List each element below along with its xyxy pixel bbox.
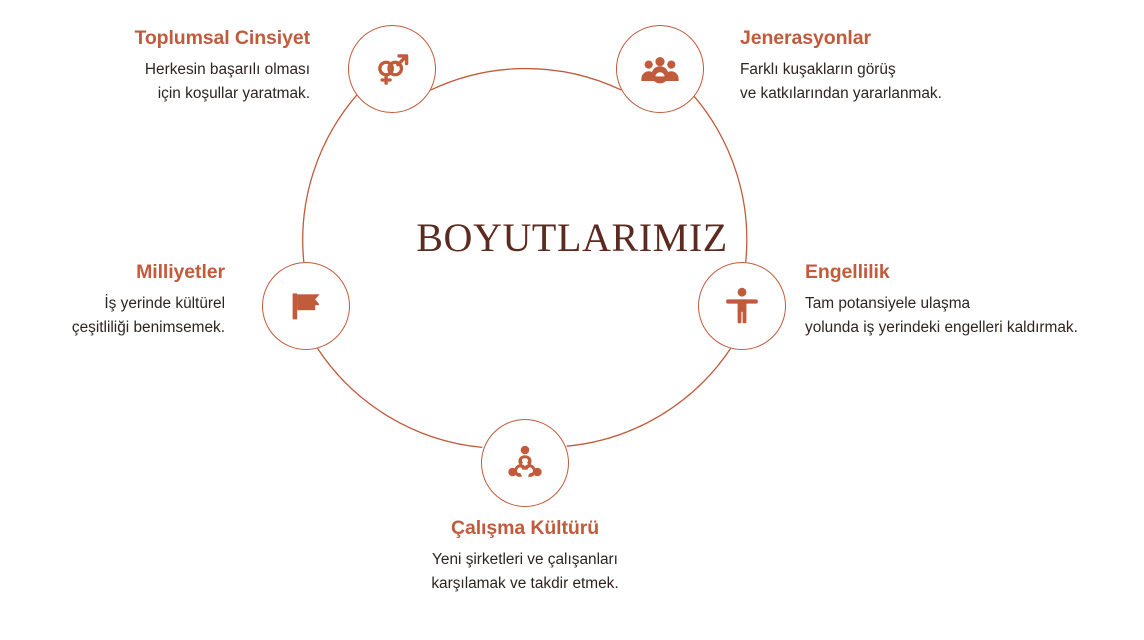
label-generations-desc: Farklı kuşakların görüş ve katkılarından… <box>740 58 1070 106</box>
teamwork-circle-icon <box>505 444 545 482</box>
diagram-canvas: Toplumsal Cinsiyet Herkesin başarılı olm… <box>0 0 1144 640</box>
label-workculture-title: Çalışma Kültürü <box>345 518 705 539</box>
label-gender: Toplumsal Cinsiyet Herkesin başarılı olm… <box>40 28 310 107</box>
flag-icon <box>288 288 324 324</box>
node-gender[interactable] <box>348 25 436 113</box>
label-workculture-desc: Yeni şirketleri ve çalışanları karşılama… <box>345 548 705 596</box>
group-of-people-icon <box>640 49 680 89</box>
label-nationality-desc: İş yerinde kültürel çeşitliliği benimsem… <box>20 292 225 340</box>
label-generations-title: Jenerasyonlar <box>740 28 1070 49</box>
label-disability: Engellilik Tam potansiyele ulaşma yolund… <box>805 262 1120 341</box>
accessibility-icon <box>725 287 759 325</box>
page-title: BOYUTLARIMIZ <box>0 218 1144 258</box>
gender-symbols-icon <box>372 49 412 89</box>
label-generations: Jenerasyonlar Farklı kuşakların görüş ve… <box>740 28 1070 107</box>
label-gender-desc: Herkesin başarılı olması için koşullar y… <box>40 58 310 106</box>
arc-workculture-to-nationality <box>317 348 482 447</box>
arc-gender-to-generations <box>431 69 622 91</box>
label-workculture: Çalışma Kültürü Yeni şirketleri ve çalış… <box>345 518 705 597</box>
label-disability-title: Engellilik <box>805 262 1120 283</box>
node-generations[interactable] <box>616 25 704 113</box>
label-nationality-title: Milliyetler <box>20 262 225 283</box>
arc-disability-to-workculture <box>567 349 731 447</box>
label-gender-title: Toplumsal Cinsiyet <box>40 28 310 49</box>
node-disability[interactable] <box>698 262 786 350</box>
label-disability-desc: Tam potansiyele ulaşma yolunda iş yerind… <box>805 292 1120 340</box>
node-nationality[interactable] <box>262 262 350 350</box>
label-nationality: Milliyetler İş yerinde kültürel çeşitlil… <box>20 262 225 341</box>
node-workculture[interactable] <box>481 419 569 507</box>
